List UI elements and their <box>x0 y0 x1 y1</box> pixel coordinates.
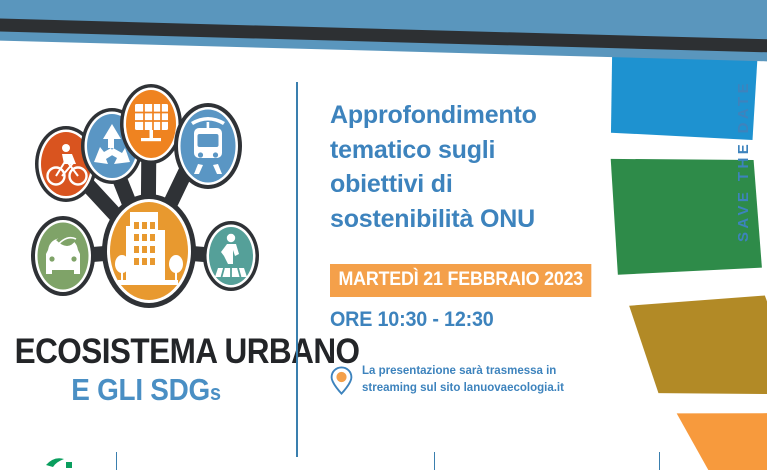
pedestrian-crossing-icon <box>203 221 259 291</box>
event-date-badge: MARTEDÌ 21 FEBBRAIO 2023 <box>330 264 592 297</box>
footer-divider-3 <box>659 452 660 470</box>
footer-logo <box>44 455 82 470</box>
event-details-column: Approfondimento tematico sugli obiettivi… <box>330 98 590 398</box>
streaming-line-2: streaming sul sito lanuovaecologia.it <box>362 380 564 397</box>
wheel-seg-orange <box>677 395 767 470</box>
eco-car-icon <box>31 216 95 296</box>
footer-divider-1 <box>116 452 117 470</box>
page-subtitle-lowercase: s <box>210 380 221 405</box>
event-time: ORE 10:30 - 12:30 <box>330 308 574 332</box>
streaming-info: La presentazione sarà trasmessa in strea… <box>330 363 590 398</box>
footer-divider-2 <box>434 452 435 470</box>
page-subtitle: E GLI SDGs <box>15 374 278 407</box>
tram-icon <box>174 103 242 189</box>
column-divider <box>296 82 298 457</box>
save-the-date-label: SAVE THE DATE <box>735 80 752 242</box>
city-building-icon <box>102 194 196 308</box>
page-subtitle-main: E GLI SDG <box>71 372 210 407</box>
event-lead-text: Approfondimento tematico sugli obiettivi… <box>330 98 590 236</box>
streaming-line-1: La presentazione sarà trasmessa in <box>362 363 564 380</box>
wheel-seg-gold <box>629 289 767 411</box>
page-title: ECOSISTEMA URBANO <box>15 334 278 370</box>
poster-canvas: ECOSISTEMA URBANO E GLI SDGs Approfondim… <box>0 0 767 470</box>
streaming-text: La presentazione sarà trasmessa in strea… <box>362 363 564 398</box>
solar-panel-icon <box>120 84 182 164</box>
location-pin-icon <box>330 366 353 395</box>
eco-icon-cluster <box>18 78 280 328</box>
poster-title-block: ECOSISTEMA URBANO E GLI SDGs <box>0 334 292 406</box>
